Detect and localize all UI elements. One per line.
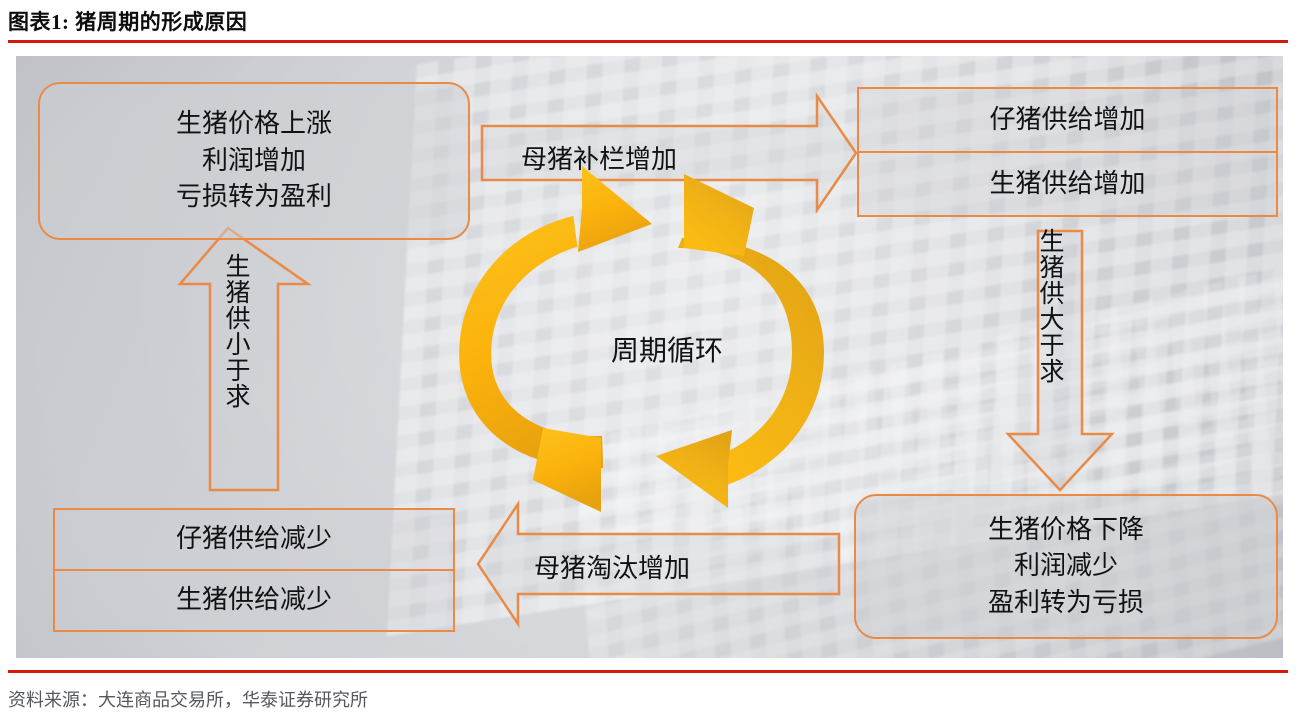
node-price-up[interactable]: 生猪价格上涨 利润增加 亏损转为盈利 bbox=[38, 82, 470, 240]
node-supply-up-row-1-label: 仔猪供给增加 bbox=[989, 102, 1145, 138]
connector-label-supply-less: 生猪供小于求 bbox=[221, 253, 249, 409]
node-supply-down[interactable]: 仔猪供给减少 生猪供给减少 bbox=[53, 508, 455, 632]
node-supply-down-row-1: 仔猪供给减少 bbox=[55, 510, 453, 569]
node-supply-up[interactable]: 仔猪供给增加 生猪供给增加 bbox=[857, 87, 1278, 217]
connector-label-supply-greater: 生猪供大于求 bbox=[1035, 228, 1063, 384]
node-supply-down-row-2: 生猪供给减少 bbox=[55, 569, 453, 630]
page-title: 图表1: 猪周期的形成原因 bbox=[8, 6, 247, 36]
node-supply-down-row-1-label: 仔猪供给减少 bbox=[176, 521, 332, 557]
title-divider bbox=[8, 40, 1288, 43]
node-price-down[interactable]: 生猪价格下降 利润减少 盈利转为亏损 bbox=[854, 494, 1278, 639]
node-price-up-line-2: 利润增加 bbox=[202, 143, 306, 179]
connector-label-sow-restock: 母猪补栏增加 bbox=[521, 139, 677, 176]
node-price-up-line-1: 生猪价格上涨 bbox=[176, 106, 332, 142]
footer-divider bbox=[8, 670, 1288, 673]
node-price-down-line-1: 生猪价格下降 bbox=[988, 512, 1144, 548]
node-supply-down-row-2-label: 生猪供给减少 bbox=[176, 582, 332, 618]
cycle-center-label: 周期循环 bbox=[577, 329, 757, 369]
node-supply-up-row-1: 仔猪供给增加 bbox=[859, 89, 1276, 151]
source-note: 资料来源：大连商品交易所，华泰证券研究所 bbox=[8, 686, 368, 712]
node-price-down-line-3: 盈利转为亏损 bbox=[988, 585, 1144, 621]
node-supply-up-row-2: 生猪供给增加 bbox=[859, 151, 1276, 215]
node-price-up-line-3: 亏损转为盈利 bbox=[176, 179, 332, 215]
node-supply-up-row-2-label: 生猪供给增加 bbox=[989, 166, 1145, 202]
connector-label-sow-cull: 母猪淘汰增加 bbox=[534, 548, 690, 585]
title-bar: 图表1: 猪周期的形成原因 bbox=[0, 0, 1296, 46]
node-price-down-line-2: 利润减少 bbox=[1014, 548, 1118, 584]
figure-panel: 生猪价格上涨 利润增加 亏损转为盈利 仔猪供给增加 生猪供给增加 生猪价格下降 … bbox=[16, 56, 1283, 658]
